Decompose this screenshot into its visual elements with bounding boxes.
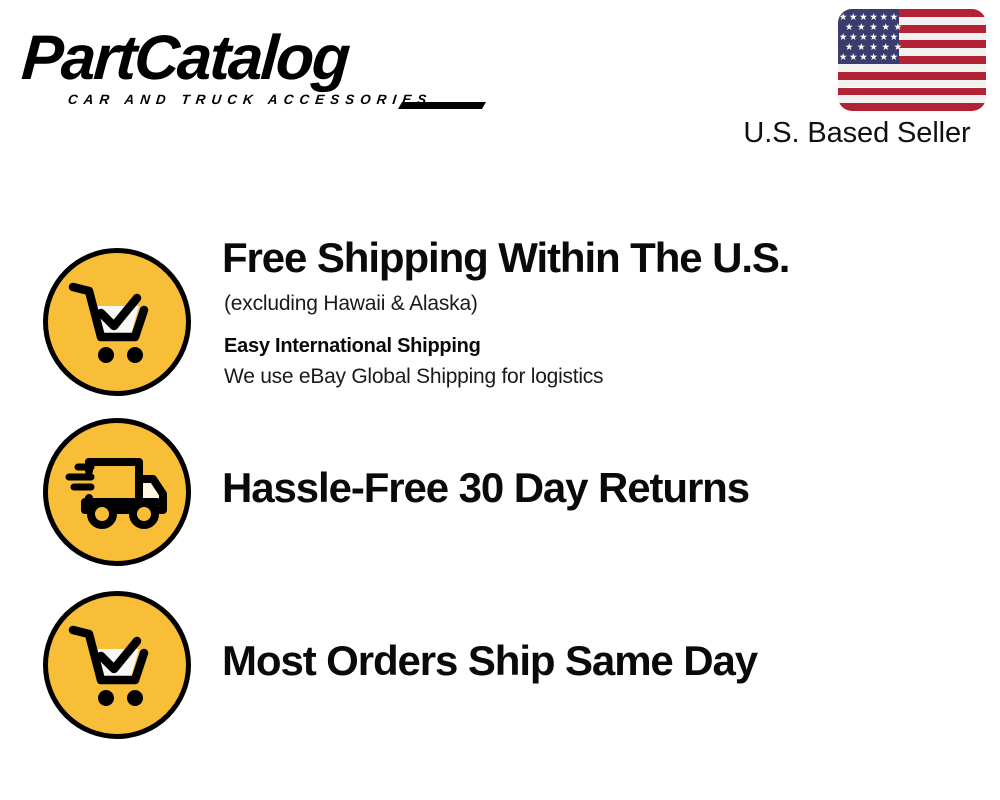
flag-canton: ★★★★★★ ★★★★★ ★★★★★★ ★★★★★ ★★★★★★ [838,9,899,64]
benefit-sub-title: Easy International Shipping [224,333,982,360]
us-flag-icon: ★★★★★★ ★★★★★ ★★★★★★ ★★★★★ ★★★★★★ [838,9,986,111]
page-header: PartCatalog CAR AND TRUCK ACCESSORIES ★★… [0,0,1000,170]
benefit-note: (excluding Hawaii & Alaska) [224,289,982,319]
shopping-cart-check-icon [43,591,191,739]
brand-logo[interactable]: PartCatalog CAR AND TRUCK ACCESSORIES [22,26,492,107]
benefit-title: Free Shipping Within The U.S. [222,233,982,283]
benefit-text-block: Free Shipping Within The U.S. (excluding… [222,233,982,392]
us-based-seller-label: U.S. Based Seller [726,117,988,150]
shopping-cart-check-icon [43,248,191,396]
logo-underline-flourish [398,102,486,109]
benefit-text-block: Hassle-Free 30 Day Returns [222,463,982,513]
delivery-truck-icon [43,418,191,566]
benefit-sub-note: We use eBay Global Shipping for logistic… [224,362,982,392]
benefit-title: Hassle-Free 30 Day Returns [222,463,982,513]
benefit-text-block: Most Orders Ship Same Day [222,636,982,686]
benefit-title: Most Orders Ship Same Day [222,636,982,686]
brand-wordmark: PartCatalog [20,26,490,90]
